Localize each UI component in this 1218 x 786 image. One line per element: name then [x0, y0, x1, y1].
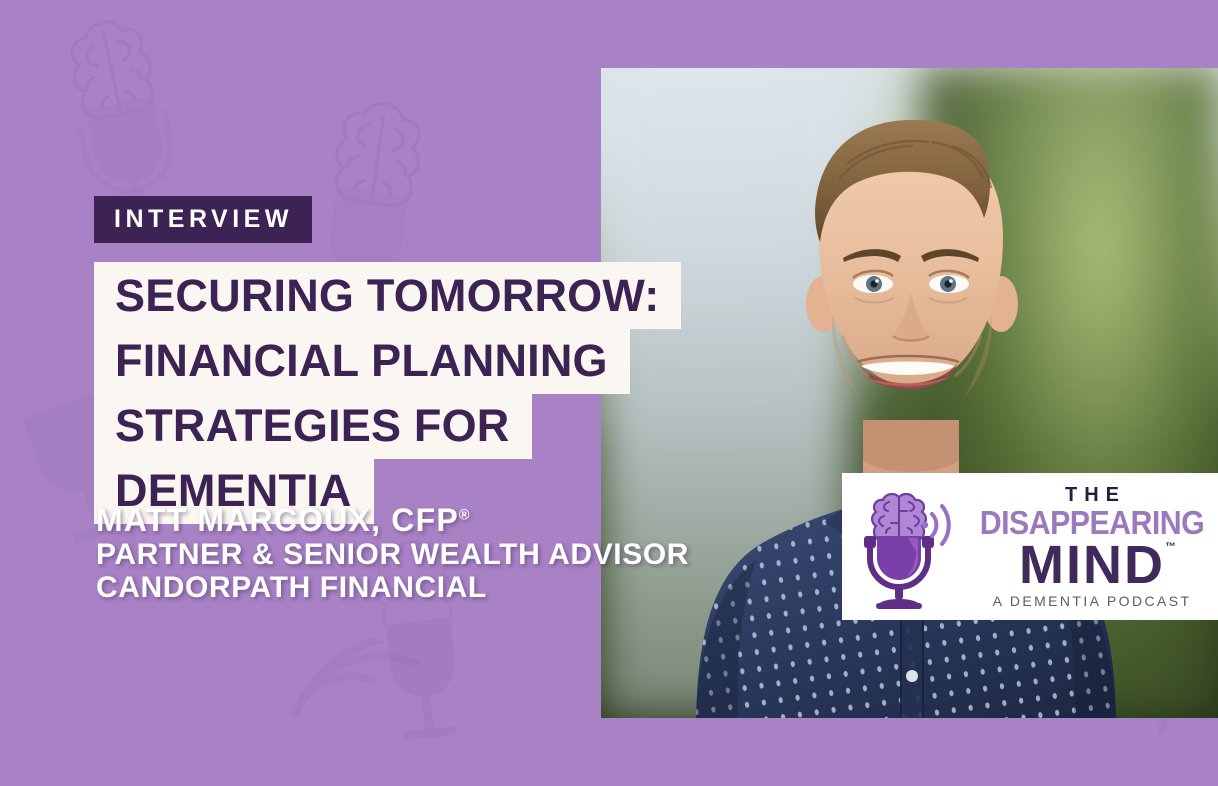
guest-photo: [601, 68, 1218, 718]
speaker-name-superscript: ®: [459, 507, 471, 523]
logo-tagline: A DEMENTIA PODCAST: [970, 594, 1214, 608]
interview-badge-label: INTERVIEW: [114, 207, 293, 232]
podcast-logo-card: THE DISAPPEARING MIND ™ A DEMENTIA PODCA…: [842, 473, 1218, 620]
speaker-name: MATT MARCOUX, CFP®: [96, 503, 689, 538]
episode-promo-graphic: INTERVIEW SECURING TOMORROW: FINANCIAL P…: [0, 0, 1218, 786]
speaker-credit: MATT MARCOUX, CFP® PARTNER & SENIOR WEAL…: [96, 503, 689, 605]
logo-mind-row: MIND ™: [1019, 540, 1165, 591]
title-line-2: FINANCIAL PLANNING: [94, 327, 630, 394]
title-line-1: SECURING TOMORROW:: [94, 262, 681, 329]
title-line-3: STRATEGIES FOR: [94, 392, 532, 459]
logo-mind: MIND: [1019, 535, 1165, 595]
interview-badge: INTERVIEW: [94, 196, 312, 243]
watermark-soundwave-icon: [221, 606, 500, 786]
logo-trademark: ™: [1165, 542, 1176, 553]
speaker-name-text: MATT MARCOUX, CFP: [96, 502, 459, 538]
speaker-role: PARTNER & SENIOR WEALTH ADVISOR: [96, 538, 689, 572]
guest-portrait-illustration: [601, 68, 1218, 718]
logo-the: THE: [977, 485, 1214, 505]
brain-microphone-icon: [856, 484, 964, 609]
page-title: SECURING TOMORROW: FINANCIAL PLANNING ST…: [94, 262, 681, 524]
podcast-logo-wordmark: THE DISAPPEARING MIND ™ A DEMENTIA PODCA…: [970, 485, 1214, 608]
speaker-company: CANDORPATH FINANCIAL: [96, 571, 689, 605]
